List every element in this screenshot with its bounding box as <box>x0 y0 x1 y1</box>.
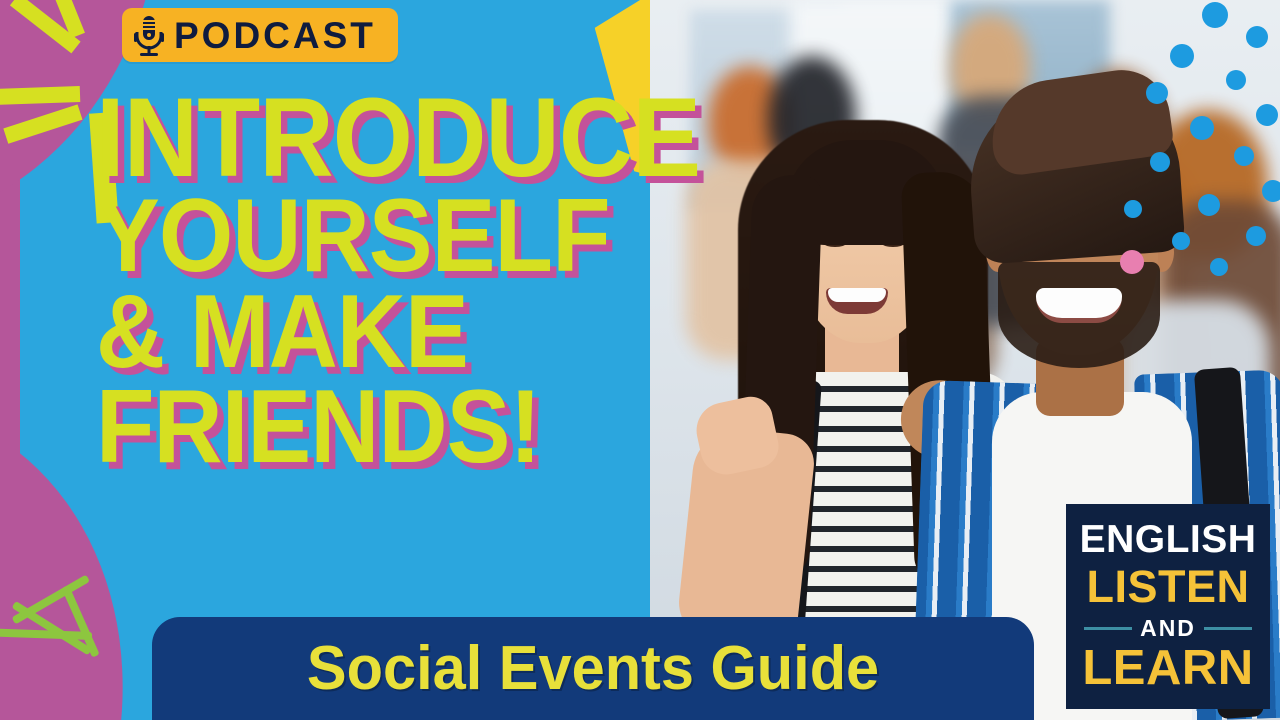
headline-line-2: YOURSELF <box>96 189 758 285</box>
confetti-dot <box>1256 104 1278 126</box>
channel-logo[interactable]: ENGLISH LISTEN AND LEARN <box>1066 504 1270 709</box>
podcast-badge[interactable]: PODCAST <box>122 8 398 62</box>
logo-rule-left <box>1084 627 1132 630</box>
confetti-dot <box>1170 44 1194 68</box>
confetti-dot <box>1202 2 1228 28</box>
logo-line-and: AND <box>1140 617 1196 640</box>
logo-line-learn: LEARN <box>1082 644 1253 693</box>
confetti-dot <box>1210 258 1228 276</box>
logo-line-listen: LISTEN <box>1086 563 1249 610</box>
girl-teeth <box>828 288 886 302</box>
confetti-dot <box>1246 226 1266 246</box>
confetti-dot <box>1124 200 1142 218</box>
subtitle-banner: Social Events Guide <box>152 617 1034 720</box>
confetti-dot <box>1146 82 1168 104</box>
thumbnail-canvas: PODCAST INTRODUCE YOURSELF & MAKE FRIEND… <box>0 0 1280 720</box>
confetti-dot-pink <box>1120 250 1144 274</box>
confetti-dot <box>1190 116 1214 140</box>
man-smile <box>1036 288 1122 323</box>
subtitle-text: Social Events Guide <box>307 633 879 704</box>
headline-line-4: FRIENDS! <box>96 380 758 476</box>
microphone-icon <box>134 15 164 55</box>
girl-smile <box>826 288 888 314</box>
confetti-dot <box>1262 180 1280 202</box>
logo-rule-right <box>1204 627 1252 630</box>
headline-line-1: INTRODUCE <box>96 86 758 189</box>
logo-and-row: AND <box>1084 617 1252 640</box>
confetti-dot <box>1198 194 1220 216</box>
confetti-dot <box>1172 232 1190 250</box>
confetti-dot <box>1226 70 1246 90</box>
logo-line-english: ENGLISH <box>1080 520 1257 559</box>
page-title: INTRODUCE YOURSELF & MAKE FRIENDS! <box>96 86 758 476</box>
podcast-badge-label: PODCAST <box>174 17 376 54</box>
confetti-dot <box>1234 146 1254 166</box>
headline-line-3: & MAKE <box>96 285 758 381</box>
confetti-dot <box>1150 152 1170 172</box>
ray-burst-top-left <box>0 86 80 105</box>
confetti-dot <box>1246 26 1268 48</box>
